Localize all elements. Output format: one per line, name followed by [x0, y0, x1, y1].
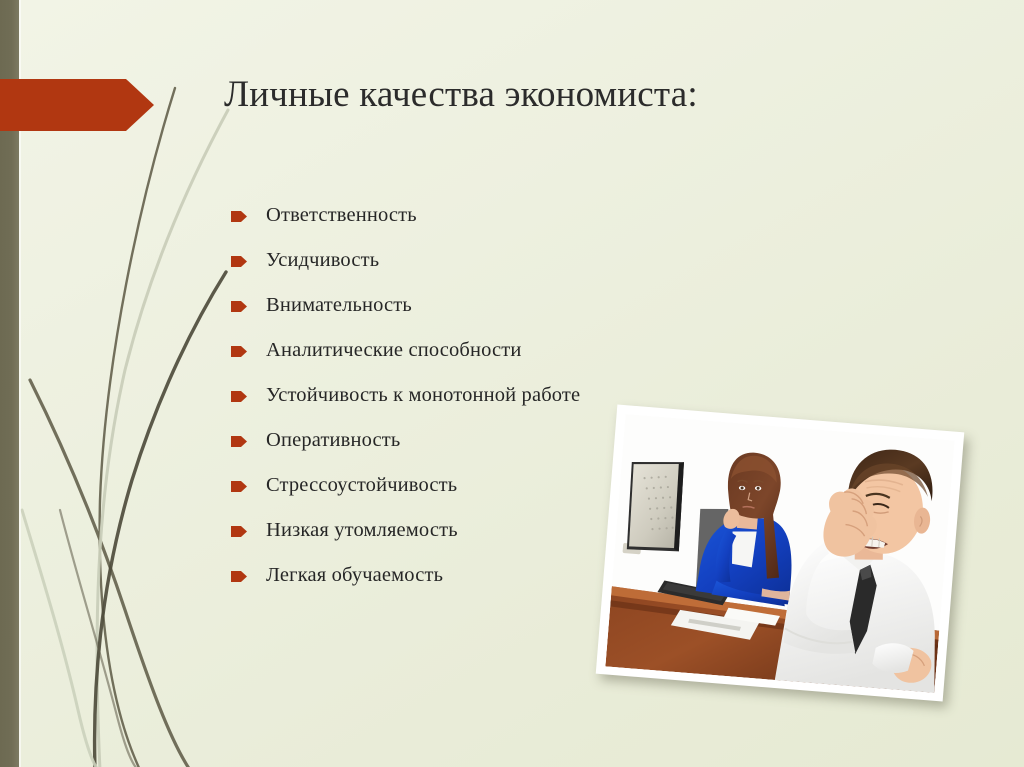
list-item-label: Оперативность — [266, 429, 400, 452]
list-item-label: Аналитические способности — [266, 339, 521, 362]
list-item-label: Низкая утомляемость — [266, 519, 458, 542]
grass-reeds-decoration — [0, 80, 270, 767]
arrow-bullet-icon — [231, 526, 247, 537]
arrow-bullet-icon — [231, 256, 247, 267]
list-item[interactable]: Аналитические способности — [231, 328, 831, 373]
office-photo-image — [605, 414, 954, 693]
list-item-label: Легкая обучаемость — [266, 564, 443, 587]
arrow-bullet-icon — [231, 481, 247, 492]
list-item-label: Усидчивость — [266, 249, 379, 272]
arrow-bullet-icon — [231, 211, 247, 222]
list-item[interactable]: Внимательность — [231, 283, 831, 328]
list-item[interactable]: Усидчивость — [231, 238, 831, 283]
arrow-bullet-icon — [231, 391, 247, 402]
arrow-bullet-icon — [231, 346, 247, 357]
list-item[interactable]: Ответственность — [231, 193, 831, 238]
list-item[interactable]: Устойчивость к монотонной работе — [231, 373, 831, 418]
list-item-label: Стрессоустойчивость — [266, 474, 457, 497]
office-photo — [596, 404, 965, 701]
list-item-label: Устойчивость к монотонной работе — [266, 384, 580, 407]
arrow-bullet-icon — [231, 301, 247, 312]
list-item-label: Внимательность — [266, 294, 412, 317]
slide-canvas: Личные качества экономиста: Ответственно… — [0, 0, 1024, 767]
arrow-bullet-icon — [231, 571, 247, 582]
arrow-bullet-icon — [231, 436, 247, 447]
list-item-label: Ответственность — [266, 204, 417, 227]
page-title: Личные качества экономиста: — [224, 72, 984, 118]
title-arrow-banner — [0, 79, 154, 131]
office-photo-illustration — [605, 414, 954, 693]
